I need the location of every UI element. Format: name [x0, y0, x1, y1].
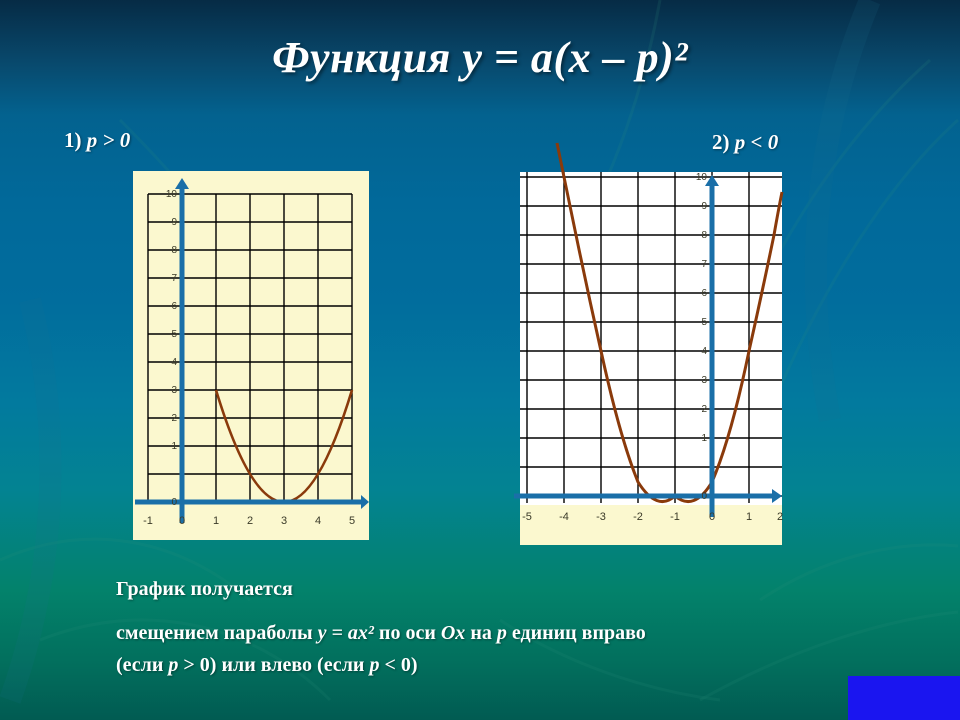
y-tick-labels-right: 10 9 8 7 6 5 4 3 2 1 0 — [696, 172, 708, 502]
graph-panel-right: 10 9 8 7 6 5 4 3 2 1 0 -5 -4 -3 -2 -1 0 … — [520, 172, 782, 545]
svg-text:5: 5 — [349, 515, 355, 527]
svg-text:2: 2 — [701, 404, 707, 415]
graph-left-svg: 10 9 8 7 6 5 4 3 2 1 0 -1 0 1 2 3 4 5 — [133, 171, 369, 540]
slide-root: Функция y = a(x – p)² 1) p > 0 2) p < 0 — [0, 0, 960, 720]
svg-text:5: 5 — [701, 317, 707, 328]
svg-text:6: 6 — [171, 301, 177, 312]
svg-text:9: 9 — [171, 217, 177, 228]
svg-text:4: 4 — [171, 357, 177, 368]
y-tick-labels-left: 10 9 8 7 6 5 4 3 2 1 0 — [166, 189, 178, 508]
svg-text:1: 1 — [746, 511, 752, 523]
svg-text:0: 0 — [709, 511, 715, 523]
svg-text:2: 2 — [247, 515, 253, 527]
explanation-line-1: График получается — [116, 578, 293, 601]
svg-text:5: 5 — [171, 329, 177, 340]
svg-text:3: 3 — [281, 515, 287, 527]
x-tick-labels-left: -1 0 1 2 3 4 5 — [143, 515, 355, 527]
corner-accent-rectangle — [848, 676, 960, 720]
svg-text:3: 3 — [701, 375, 707, 386]
svg-text:2: 2 — [171, 413, 177, 424]
explanation-line-3: (если p > 0) или влево (если p < 0) — [116, 654, 418, 677]
svg-text:-4: -4 — [559, 511, 569, 523]
svg-text:4: 4 — [315, 515, 321, 527]
svg-text:8: 8 — [701, 230, 707, 241]
svg-text:7: 7 — [171, 273, 177, 284]
svg-text:-1: -1 — [143, 515, 153, 527]
svg-text:0: 0 — [179, 515, 185, 527]
svg-text:-2: -2 — [633, 511, 643, 523]
graph-right-svg: 10 9 8 7 6 5 4 3 2 1 0 -5 -4 -3 -2 -1 0 … — [520, 172, 782, 545]
svg-text:3: 3 — [171, 385, 177, 396]
svg-text:7: 7 — [701, 259, 707, 270]
axes-left — [135, 178, 369, 523]
case-label-right: 2) p < 0 — [712, 130, 778, 155]
svg-text:-3: -3 — [596, 511, 606, 523]
svg-text:4: 4 — [701, 346, 707, 357]
x-tick-labels-right: -5 -4 -3 -2 -1 0 1 2 — [522, 511, 783, 523]
case-label-left: 1) p > 0 — [64, 128, 130, 153]
page-title: Функция y = a(x – p)² — [0, 32, 960, 83]
svg-text:-1: -1 — [670, 511, 680, 523]
svg-text:1: 1 — [701, 433, 707, 444]
svg-text:-5: -5 — [522, 511, 532, 523]
svg-text:10: 10 — [166, 189, 178, 200]
svg-text:1: 1 — [171, 441, 177, 452]
svg-text:0: 0 — [171, 497, 177, 508]
axes-right — [514, 175, 782, 517]
svg-text:10: 10 — [696, 172, 708, 183]
grid-lines-left — [148, 194, 352, 502]
svg-text:0: 0 — [701, 491, 707, 502]
svg-text:8: 8 — [171, 245, 177, 256]
svg-text:1: 1 — [213, 515, 219, 527]
grid-lines-right — [520, 172, 782, 503]
graph-panel-left: 10 9 8 7 6 5 4 3 2 1 0 -1 0 1 2 3 4 5 — [133, 171, 369, 540]
svg-text:2: 2 — [777, 511, 783, 523]
svg-text:6: 6 — [701, 288, 707, 299]
svg-text:9: 9 — [701, 201, 707, 212]
explanation-line-2: смещением параболы y = ax² по оси Ox на … — [116, 622, 646, 645]
